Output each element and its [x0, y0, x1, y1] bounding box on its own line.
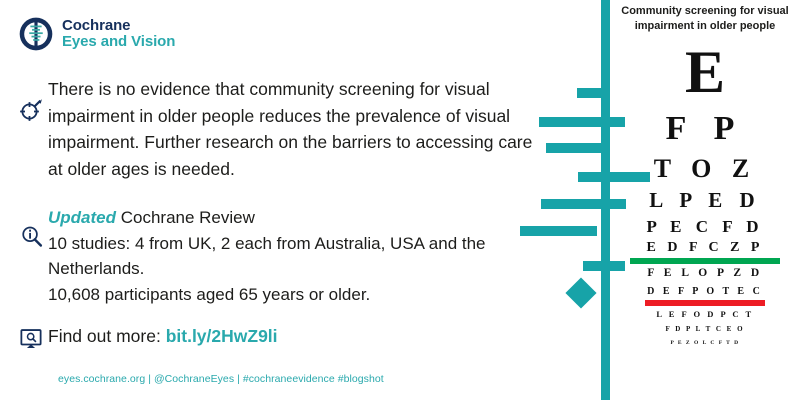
find-out-more-link[interactable]: bit.ly/2HwZ9li: [166, 326, 278, 346]
cochrane-circle-logo-icon: [18, 16, 54, 52]
eye-chart-title: Community screening for visual impairmen…: [610, 4, 800, 34]
footer-handles: eyes.cochrane.org | @CochraneEyes | #coc…: [58, 373, 384, 385]
updated-badge: Updated: [48, 208, 116, 227]
eye-chart-row: F P: [610, 112, 800, 146]
eye-chart-row: L E F O D P C T: [610, 310, 800, 319]
monitor-search-icon: [14, 325, 48, 350]
logo-wordmark: Cochrane Eyes and Vision: [62, 18, 175, 50]
cochrane-logo: Cochrane Eyes and Vision: [18, 16, 175, 52]
target-crosshair-icon: [14, 76, 48, 122]
forest-plot-ci-bar: [577, 88, 601, 98]
eye-chart-row: E D F C Z P: [610, 241, 800, 255]
review-body: Updated Cochrane Review 10 studies: 4 fr…: [48, 205, 544, 307]
magnifier-info-icon: [14, 205, 48, 248]
snellen-chart: EF PT O ZL P E DP E C F DE D F C Z PF E …: [610, 42, 800, 347]
review-heading-rest: Cochrane Review: [116, 208, 255, 227]
review-line-1: 10,608 participants aged 65 years or old…: [48, 282, 544, 308]
eye-chart-row: P E C F D: [610, 218, 800, 235]
find-out-more-text: Find out more: bit.ly/2HwZ9li: [48, 325, 514, 348]
eye-chart-panel: Community screening for visual impairmen…: [610, 0, 800, 400]
key-message-text: There is no evidence that community scre…: [48, 76, 544, 182]
forest-plot-ci-bar: [520, 226, 597, 236]
eye-chart-row: D E F P O T E C: [610, 287, 800, 297]
logo-name-secondary: Eyes and Vision: [62, 34, 175, 50]
review-heading: Updated Cochrane Review: [48, 205, 544, 231]
eye-chart-row: P E Z O L C F T D: [610, 341, 800, 347]
content-panel: Cochrane Eyes and Vision There is no evi…: [0, 0, 600, 400]
forest-plot-pooled-diamond: [565, 277, 596, 308]
review-block: Updated Cochrane Review 10 studies: 4 fr…: [14, 205, 544, 307]
logo-name-primary: Cochrane: [62, 18, 175, 34]
eye-chart-green-rule: [630, 258, 780, 264]
eye-chart-row: F E L O P Z D: [610, 268, 800, 280]
eye-chart-row: F D P L T C E O: [610, 326, 800, 333]
find-out-more-block[interactable]: Find out more: bit.ly/2HwZ9li: [14, 325, 514, 350]
eye-chart-row: T O Z: [610, 156, 800, 182]
forest-plot-ci-bar: [546, 143, 610, 153]
key-message-block: There is no evidence that community scre…: [14, 76, 544, 182]
eye-chart-row: E: [610, 42, 800, 102]
find-out-more-label: Find out more:: [48, 326, 166, 346]
eye-chart-row: L P E D: [610, 190, 800, 211]
eye-chart-red-rule: [645, 300, 765, 306]
blogshot-card: Cochrane Eyes and Vision There is no evi…: [0, 0, 800, 400]
review-line-0: 10 studies: 4 from UK, 2 each from Austr…: [48, 231, 544, 282]
